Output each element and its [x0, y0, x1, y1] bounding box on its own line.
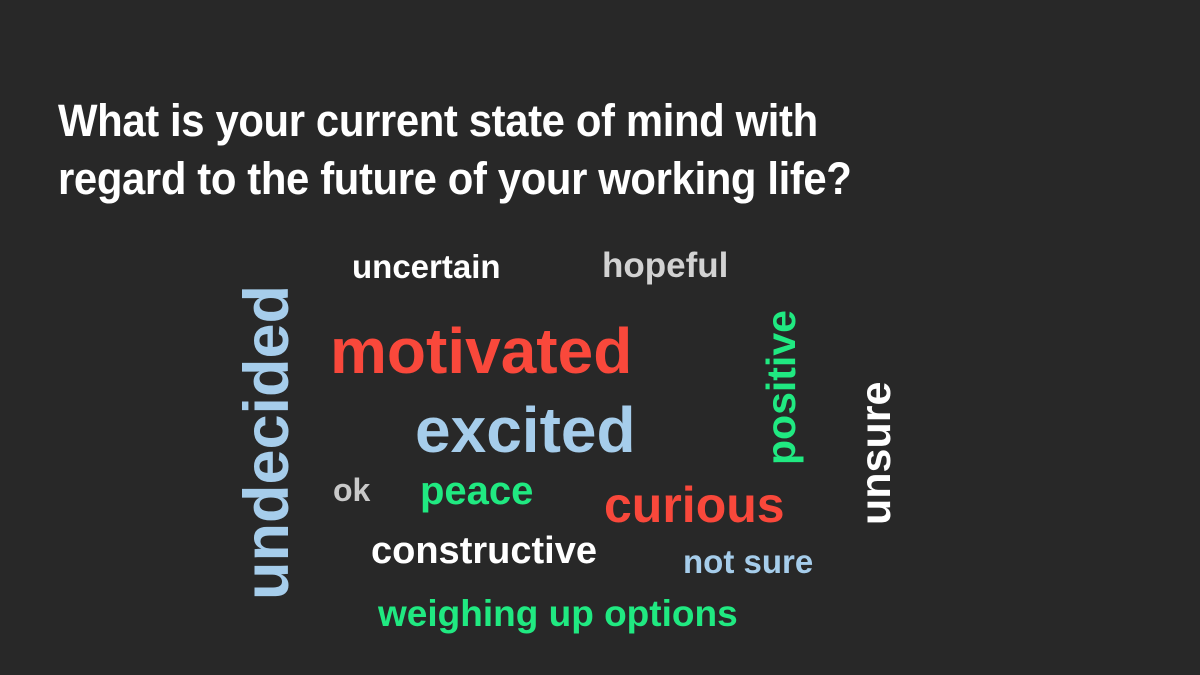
cloud-word: peace	[420, 471, 533, 511]
cloud-word: undecided	[236, 285, 299, 600]
cloud-word: uncertain	[352, 250, 501, 283]
cloud-word: weighing up options	[378, 595, 738, 632]
cloud-word: ok	[333, 474, 370, 506]
cloud-word: not sure	[683, 545, 813, 578]
cloud-word: hopeful	[602, 248, 728, 283]
word-cloud: uncertainhopefulundecidedmotivatedpositi…	[0, 0, 1200, 675]
cloud-word: positive	[761, 310, 802, 465]
cloud-word: motivated	[330, 319, 632, 383]
cloud-word: curious	[604, 480, 785, 530]
cloud-word: unsure	[855, 382, 898, 525]
word-cloud-slide: What is your current state of mind with …	[0, 0, 1200, 675]
cloud-word: excited	[415, 398, 636, 462]
cloud-word: constructive	[371, 532, 597, 570]
